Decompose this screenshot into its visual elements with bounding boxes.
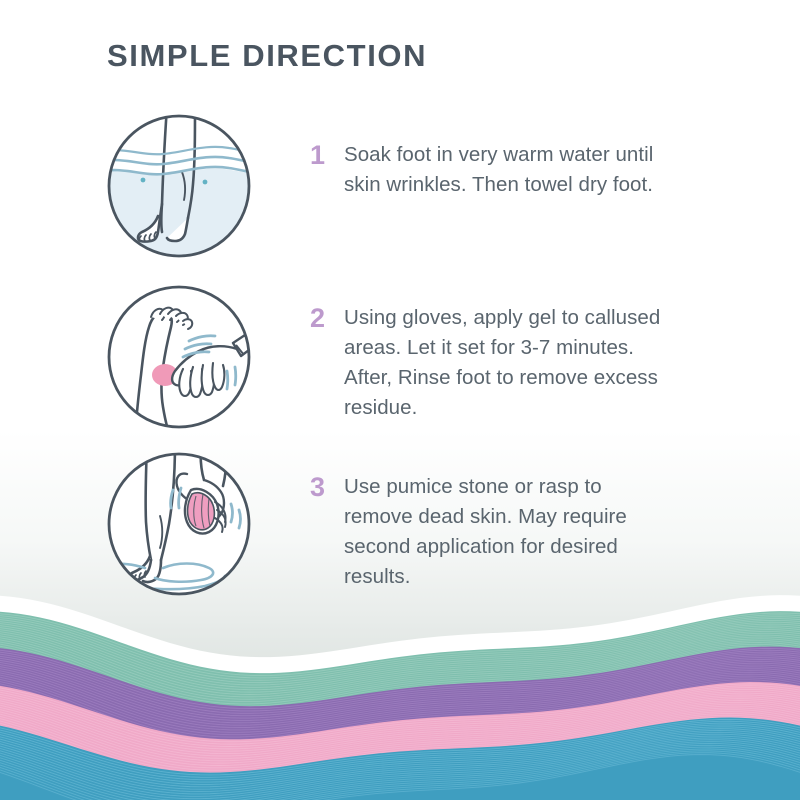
- poster-root: SIMPLE DIRECTION: [0, 0, 800, 800]
- step-3-number: 3: [310, 472, 344, 502]
- page-title: SIMPLE DIRECTION: [107, 38, 427, 74]
- step-2-body: 2 Using gloves, apply gel to callused ar…: [310, 303, 674, 423]
- step-2-text: Using gloves, apply gel to callused area…: [344, 303, 674, 423]
- step-1-number: 1: [310, 140, 344, 170]
- gloved-hand-applying-gel-icon: [105, 283, 253, 431]
- step-1-body: 1 Soak foot in very warm water until ski…: [310, 140, 674, 200]
- step-1-text: Soak foot in very warm water until skin …: [344, 140, 674, 200]
- foot-soaking-in-water-icon: [105, 112, 253, 260]
- step-2-number: 2: [310, 303, 344, 333]
- layered-wave-footer: [0, 570, 800, 800]
